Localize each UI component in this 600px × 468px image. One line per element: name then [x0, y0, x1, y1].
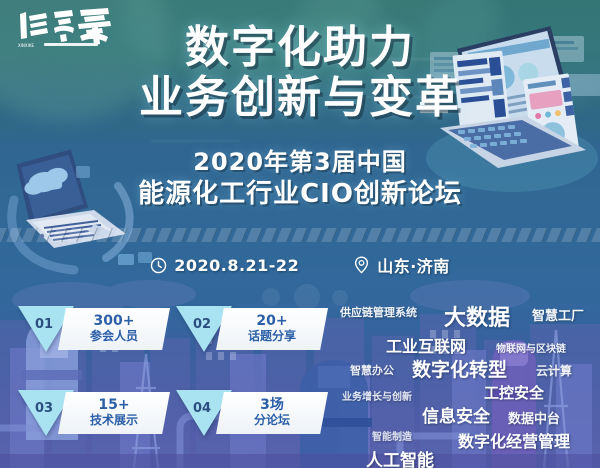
divider-dash — [6, 228, 23, 242]
divider-dash — [96, 228, 113, 242]
divider-dash — [216, 228, 233, 242]
stat-label: 话题分享 — [248, 330, 296, 344]
divider-dash — [261, 228, 278, 242]
stat-card[interactable]: 0220+话题分享 — [176, 306, 328, 352]
stat-label: 分论坛 — [254, 414, 290, 428]
light-streak — [150, 140, 240, 142]
title-line-2: 业务创新与变革 — [0, 74, 600, 122]
divider-dash — [426, 228, 443, 242]
keyword-item: 人工智能 — [366, 446, 434, 468]
keyword-item: 智慧办公 — [350, 362, 394, 378]
divider-dash — [36, 228, 53, 242]
keyword-item: 供应链管理系统 — [340, 304, 417, 320]
divider-dash — [516, 228, 533, 242]
event-location-text: 山东·济南 — [377, 253, 450, 277]
stat-plate: 3场分论坛 — [216, 392, 328, 434]
stat-value: 15+ — [98, 398, 129, 413]
keyword-item: 智慧工厂 — [532, 305, 584, 324]
event-date: 2020.8.21-22 — [150, 256, 299, 275]
stat-index-label: 04 — [184, 401, 220, 416]
divider-dash — [111, 228, 128, 242]
divider-dash — [231, 228, 248, 242]
divider-dash — [381, 228, 398, 242]
divider-dash — [336, 228, 353, 242]
divider-dash — [126, 228, 143, 242]
divider-dash — [186, 228, 203, 242]
divider-dash — [81, 228, 98, 242]
divider-dash — [546, 228, 563, 242]
keyword-item: 工控安全 — [484, 382, 544, 403]
divider-dash — [441, 228, 458, 242]
poster-title: 数字化助力 业务创新与变革 — [0, 24, 600, 121]
divider-dash — [21, 228, 38, 242]
divider-dash — [321, 228, 338, 242]
stat-label: 参会人员 — [90, 330, 138, 344]
subtitle-line-1: 2020年第3届中国 — [0, 148, 600, 176]
stat-label: 技术展示 — [90, 414, 138, 428]
event-poster: XINXIKE — [0, 0, 600, 468]
keyword-cloud: 供应链管理系统大数据智慧工厂工业互联网物联网与区块链智慧办公数字化转型云计算业务… — [336, 300, 600, 468]
divider-dash — [351, 228, 368, 242]
event-location: 山东·济南 — [353, 253, 450, 277]
divider-dash — [276, 228, 293, 242]
divider-dash — [141, 228, 158, 242]
keyword-item: 大数据 — [444, 300, 510, 332]
stat-card[interactable]: 01300+参会人员 — [18, 306, 170, 352]
stat-value: 3场 — [260, 398, 284, 413]
divider-dash — [576, 228, 593, 242]
event-date-text: 2020.8.21-22 — [174, 256, 299, 275]
divider-dash — [591, 228, 600, 242]
divider-dash — [471, 228, 488, 242]
divider-dash — [396, 228, 413, 242]
stat-card-group: 01300+参会人员0220+话题分享0315+技术展示043场分论坛 — [18, 306, 348, 456]
keyword-item: 信息安全 — [422, 402, 490, 427]
divider-dash — [531, 228, 548, 242]
divider-dash — [66, 228, 83, 242]
poster-subtitle: 2020年第3届中国 能源化工行业CIO创新论坛 — [0, 148, 600, 210]
keyword-item: 云计算 — [536, 362, 572, 379]
title-line-1: 数字化助力 — [0, 24, 600, 72]
stat-index-label: 01 — [26, 317, 62, 332]
stat-value: 300+ — [94, 314, 135, 329]
stat-card[interactable]: 0315+技术展示 — [18, 390, 170, 436]
stat-plate: 20+话题分享 — [216, 308, 328, 350]
stat-index-label: 03 — [26, 401, 62, 416]
keyword-item: 工业互联网 — [386, 333, 466, 357]
keyword-item: 物联网与区块链 — [496, 340, 566, 355]
divider-dash — [561, 228, 578, 242]
keyword-item: 数字化转型 — [412, 355, 507, 382]
divider-dash — [51, 228, 68, 242]
stat-value: 20+ — [256, 314, 287, 329]
divider-dash — [501, 228, 518, 242]
divider-dash — [201, 228, 218, 242]
divider-dash — [456, 228, 473, 242]
clock-icon — [150, 257, 167, 274]
divider-dash — [156, 228, 173, 242]
subtitle-line-2: 能源化工行业CIO创新论坛 — [0, 179, 600, 210]
map-pin-icon — [353, 256, 370, 274]
stat-plate: 15+技术展示 — [58, 392, 170, 434]
divider-dash — [411, 228, 428, 242]
keyword-item: 数据中台 — [508, 408, 560, 427]
keyword-item: 业务增长与创新 — [342, 388, 412, 403]
stat-plate: 300+参会人员 — [58, 308, 170, 350]
divider-dash — [306, 228, 323, 242]
divider-dash — [486, 228, 503, 242]
event-meta: 2020.8.21-22 山东·济南 — [0, 253, 600, 277]
dashed-divider — [0, 228, 600, 242]
divider-dash — [291, 228, 308, 242]
divider-dash — [171, 228, 188, 242]
divider-dash — [246, 228, 263, 242]
keyword-item: 智能制造 — [372, 428, 412, 443]
keyword-item: 数字化经营管理 — [458, 428, 570, 452]
stat-card[interactable]: 043场分论坛 — [176, 390, 328, 436]
divider-dash — [366, 228, 383, 242]
stat-index-label: 02 — [184, 317, 220, 332]
